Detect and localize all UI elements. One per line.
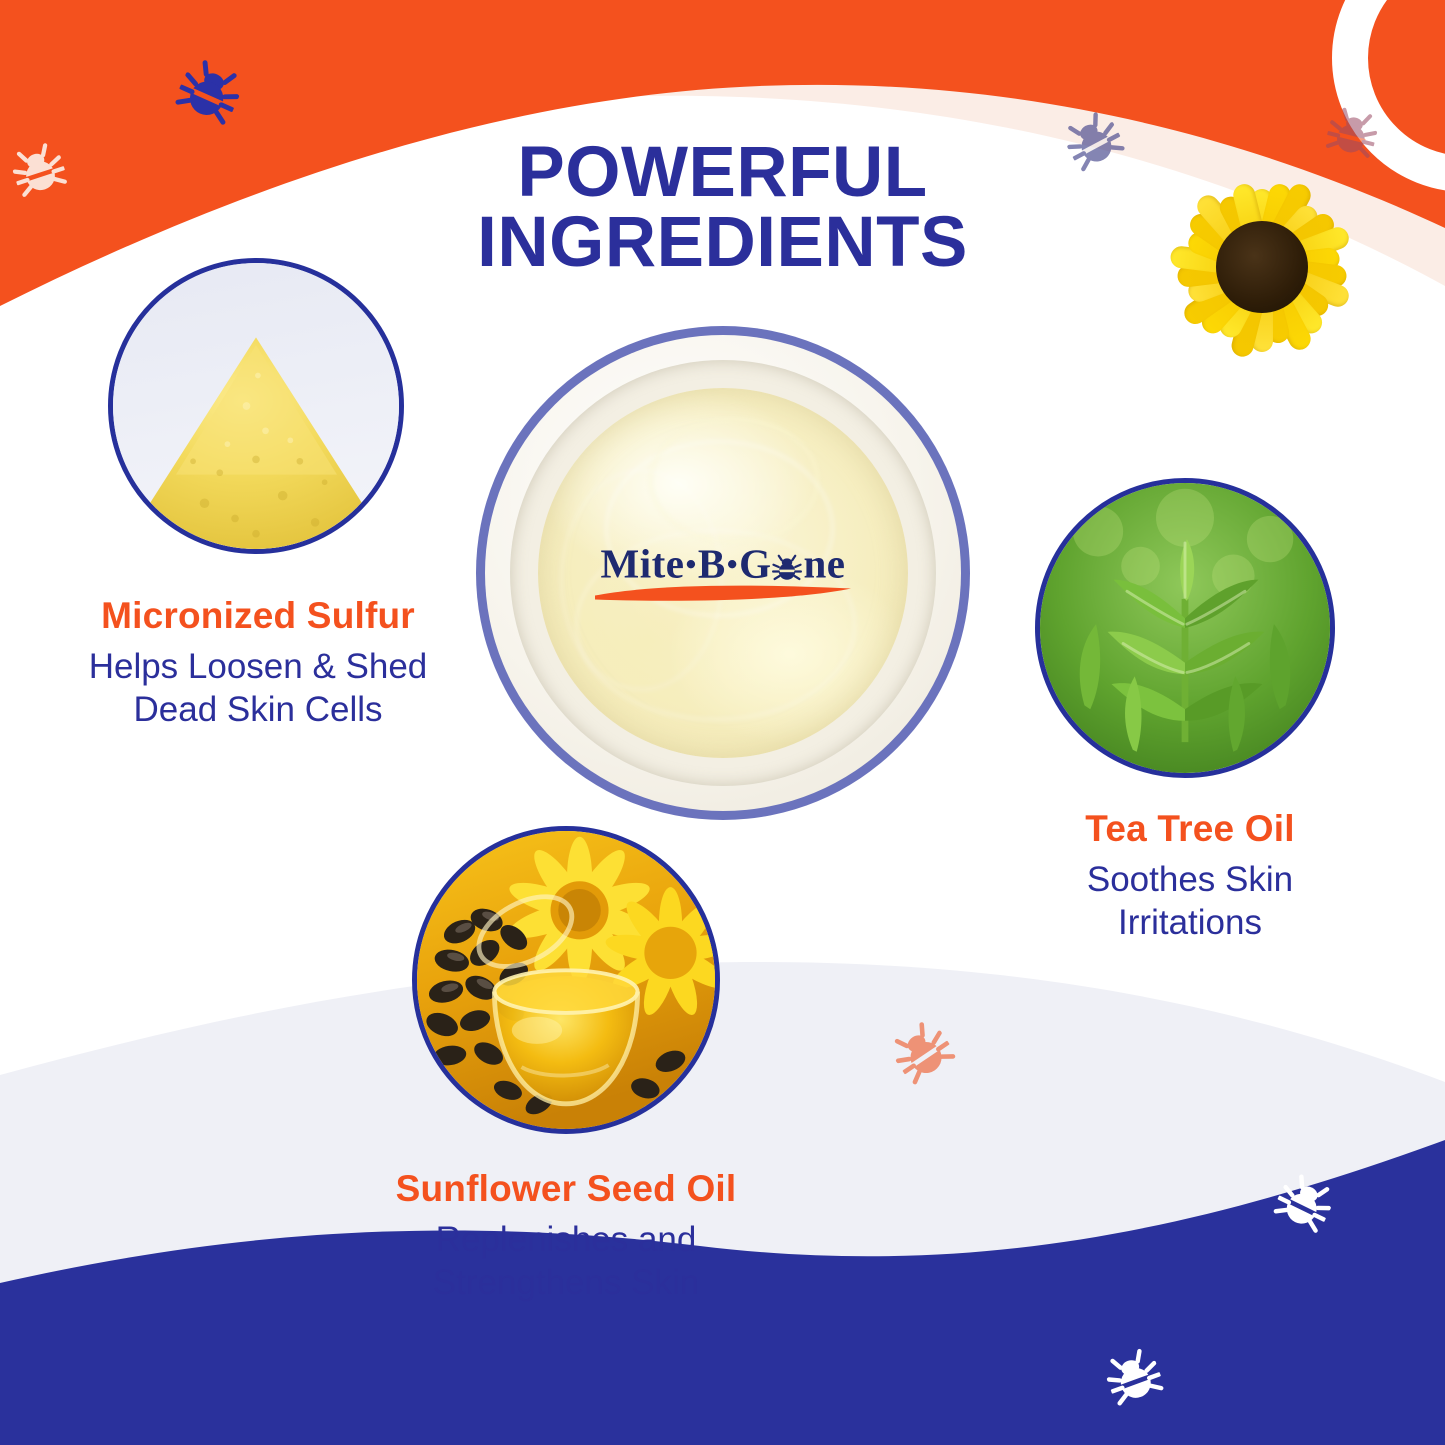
ingredient-desc-micronized-sulfur-line-2: Dead Skin Cells (28, 688, 488, 731)
ingredient-label-tea-tree-oil: Tea Tree Oil Soothes Skin Irritations (1000, 808, 1380, 945)
infographic-canvas: POWERFUL INGREDIENTS (0, 0, 1445, 1445)
logo-word-ne: ne (803, 544, 845, 585)
logo-word-g: G (739, 544, 771, 585)
product-logo: Mite • B • G ne (573, 544, 873, 603)
ingredient-image-tea-tree-oil (1035, 478, 1335, 778)
logo-separator-1: • (685, 549, 696, 580)
logo-word-b: B (698, 544, 726, 585)
ingredient-desc-sunflower-seed-oil-line-1: Replenishes and (326, 1218, 806, 1261)
page-title: POWERFUL INGREDIENTS (0, 138, 1445, 277)
ingredient-desc-sunflower-seed-oil-line-2: Strengthens Skin (326, 1261, 806, 1304)
ingredient-desc-micronized-sulfur-line-1: Helps Loosen & Shed (28, 645, 488, 688)
ingredient-image-sunflower-seed-oil (412, 826, 720, 1134)
ingredient-desc-tea-tree-oil-line-2: Irritations (1000, 901, 1380, 944)
product-logo-text: Mite • B • G ne (573, 544, 873, 585)
bug-icon (772, 549, 802, 579)
ingredient-name-tea-tree-oil: Tea Tree Oil (1000, 808, 1380, 849)
ingredient-desc-tea-tree-oil-line-1: Soothes Skin (1000, 858, 1380, 901)
ingredient-name-micronized-sulfur: Micronized Sulfur (28, 595, 488, 636)
logo-word-mite: Mite (601, 544, 685, 585)
ingredient-label-sunflower-seed-oil: Sunflower Seed Oil Replenishes and Stren… (326, 1168, 806, 1305)
logo-separator-2: • (727, 549, 738, 580)
product-jar: Mite • B • G ne (476, 326, 970, 820)
page-title-line-1: POWERFUL (0, 138, 1445, 208)
page-title-line-2: INGREDIENTS (0, 208, 1445, 278)
ingredient-image-micronized-sulfur (108, 258, 404, 554)
ingredient-name-sunflower-seed-oil: Sunflower Seed Oil (326, 1168, 806, 1209)
ingredient-label-micronized-sulfur: Micronized Sulfur Helps Loosen & Shed De… (28, 595, 488, 732)
